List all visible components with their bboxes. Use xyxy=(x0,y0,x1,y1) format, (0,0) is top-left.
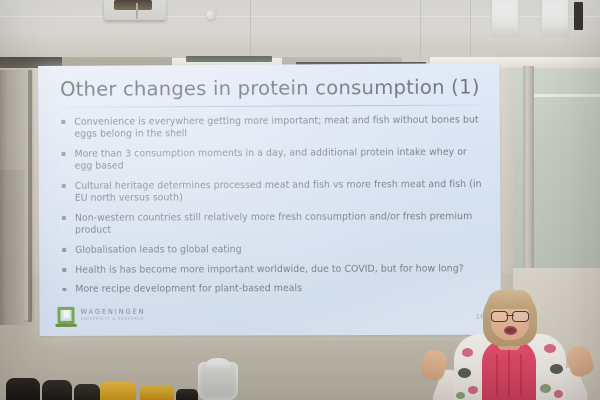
presenter xyxy=(418,288,600,400)
list-item-text: Convenience is everywhere getting more i… xyxy=(74,115,478,141)
table-object-yellow xyxy=(140,385,174,400)
slide-bullet-list: Convenience is everywhere getting more i… xyxy=(60,115,483,304)
bullet-marker-icon xyxy=(62,268,66,272)
list-item: More than 3 consumption moments in a day… xyxy=(61,147,483,174)
title-divider xyxy=(58,105,478,108)
list-item-text: Globalisation leads to global eating xyxy=(75,244,242,256)
ceiling-light xyxy=(542,0,568,34)
slide-footer: WAGENINGEN UNIVERSITY & RESEARCH xyxy=(57,307,145,324)
lecture-room-scene: Other changes in protein consumption (1)… xyxy=(0,0,600,400)
bullet-marker-icon xyxy=(62,184,66,188)
list-item: Convenience is everywhere getting more i… xyxy=(60,115,482,142)
glass-panel-rail xyxy=(534,94,600,97)
list-item-text: Health is has become more important worl… xyxy=(75,263,464,275)
projector-lens xyxy=(114,0,152,10)
list-item: Cultural heritage determines processed m… xyxy=(61,179,483,206)
list-item: Globalisation leads to global eating xyxy=(61,243,483,257)
table-object-yellow xyxy=(100,382,136,400)
list-item-text: More than 3 consumption moments in a day… xyxy=(75,147,467,172)
ceiling-rail-accent xyxy=(186,56,272,62)
presenter-hair-top xyxy=(487,290,533,309)
whiteboard-secondary xyxy=(0,170,24,325)
bullet-marker-icon xyxy=(62,248,66,252)
table-object-dark xyxy=(74,384,100,400)
bullet-marker-icon xyxy=(62,216,66,220)
table-object-dark xyxy=(176,389,198,400)
slide-title: Other changes in protein consumption (1) xyxy=(60,75,480,101)
bullet-marker-icon xyxy=(61,120,65,124)
list-item-text: Cultural heritage determines processed m… xyxy=(75,179,482,204)
ceiling-projector-icon xyxy=(104,0,166,20)
table-object-dark xyxy=(6,378,40,400)
bullet-marker-icon xyxy=(62,152,66,156)
list-item-text: More recipe development for plant-based … xyxy=(75,283,302,295)
smoke-detector-icon xyxy=(206,10,216,20)
presenter-glasses-icon xyxy=(491,311,529,320)
ceiling-fixture-dark xyxy=(574,2,583,30)
list-item: Non-western countries still relatively m… xyxy=(61,211,483,238)
projector-cable xyxy=(136,3,138,19)
table-object-dark xyxy=(42,380,72,400)
whiteboard-edge xyxy=(28,70,32,322)
logo-wordmark: WAGENINGEN UNIVERSITY & RESEARCH xyxy=(81,309,146,321)
presenter-mouth-inner xyxy=(506,328,515,333)
glass-jar-lid xyxy=(206,358,230,370)
list-item: Health is has become more important worl… xyxy=(61,263,483,277)
logo-name: WAGENINGEN xyxy=(81,309,146,316)
wageningen-logo-icon xyxy=(57,307,74,324)
logo-subtitle: UNIVERSITY & RESEARCH xyxy=(81,318,146,322)
bullet-marker-icon xyxy=(62,287,66,291)
list-item-text: Non-western countries still relatively m… xyxy=(75,211,472,236)
glass-panel-mullion xyxy=(523,66,534,272)
ceiling-light xyxy=(492,0,518,34)
